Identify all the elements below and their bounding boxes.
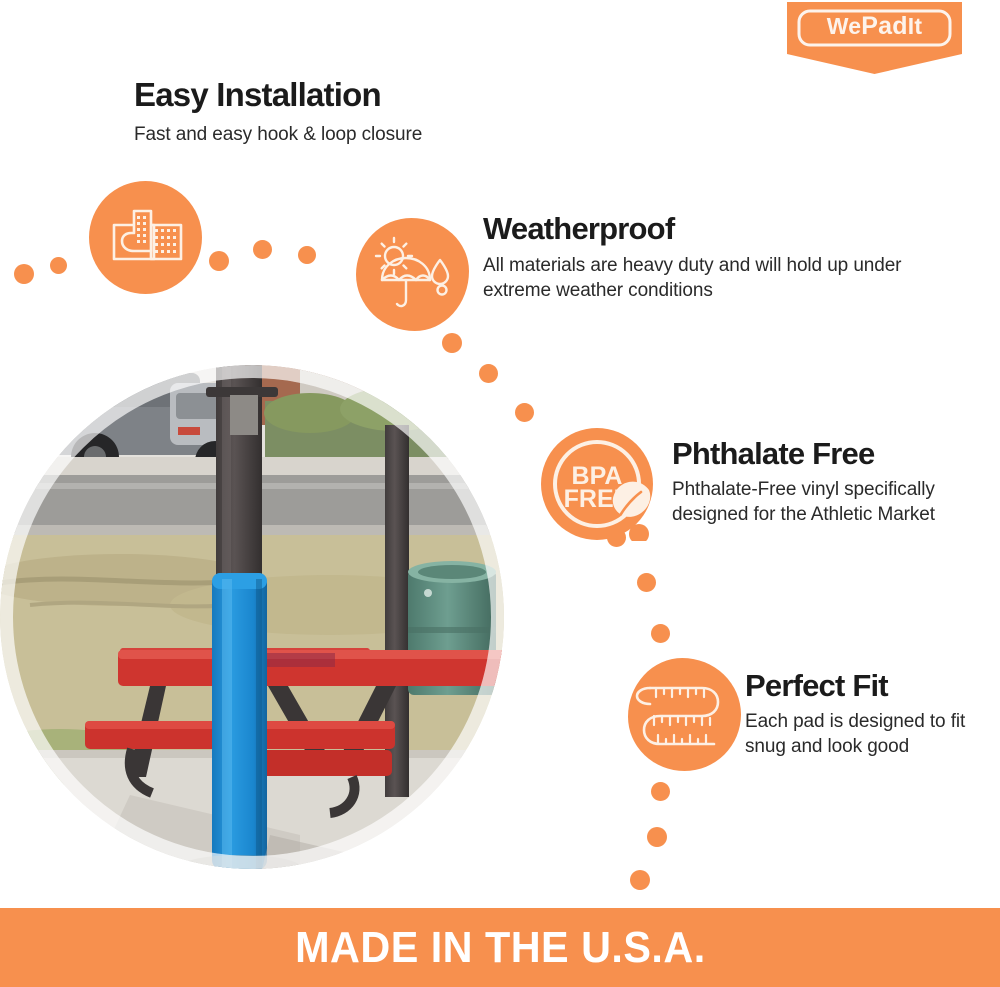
logo-text-pad: Pad [861,12,907,40]
feature-description-phthalate-free: Phthalate-Free vinyl specifically design… [672,477,982,527]
feature-description-perfect-fit: Each pad is designed to fit snug and loo… [745,709,995,759]
product-photo [0,365,505,870]
bpa-free-leaf-icon: BPA FREE [541,428,654,541]
sun-umbrella-rain-icon [356,218,469,331]
feature-description-easy-installation: Fast and easy hook & loop closure [134,122,564,147]
hook-and-loop-icon [89,181,202,294]
made-in-usa-banner: MADE IN THE U.S.A. [0,908,1000,987]
logo-text: WePadIt [787,14,962,39]
feature-description-weatherproof: All materials are heavy duty and will ho… [483,253,913,303]
path-dot [647,827,667,847]
made-in-usa-text: MADE IN THE U.S.A. [295,923,706,973]
path-dot [651,782,670,801]
logo-text-we: We [827,13,862,39]
brand-logo: WePadIt [787,2,962,74]
feature-block-easy-installation: Easy Installation Fast and easy hook & l… [134,78,564,147]
path-dot [14,264,34,284]
measuring-tape-icon [628,658,741,771]
path-dot [298,246,316,264]
path-dot [515,403,534,422]
feature-title-perfect-fit: Perfect Fit [745,670,995,703]
feature-title-weatherproof: Weatherproof [483,213,913,246]
path-dot [651,624,670,643]
feature-block-phthalate-free: Phthalate Free Phthalate-Free vinyl spec… [672,438,982,527]
path-dot [50,257,67,274]
feature-block-perfect-fit: Perfect Fit Each pad is designed to fit … [745,670,995,759]
path-dot [442,333,462,353]
product-photo-illustration [0,365,505,870]
path-dot [479,364,498,383]
path-dot [209,251,229,271]
logo-text-it: It [908,13,922,39]
infographic-canvas: WePadIt Easy Installation Fast and easy … [0,0,1000,987]
feature-block-weatherproof: Weatherproof All materials are heavy dut… [483,213,913,303]
path-dot [253,240,272,259]
feature-title-easy-installation: Easy Installation [134,78,564,113]
feature-title-phthalate-free: Phthalate Free [672,438,982,471]
path-dot [607,528,626,547]
path-dot [630,870,650,890]
path-dot [637,573,656,592]
